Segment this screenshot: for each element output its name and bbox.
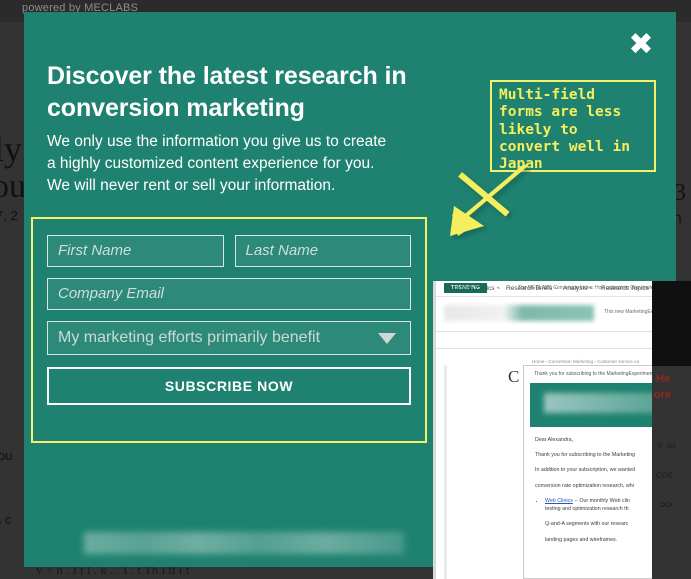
- thumbnail-overlay-grey-1: e an: [658, 439, 676, 451]
- subscribe-now-button[interactable]: SUBSCRIBE NOW: [47, 367, 411, 405]
- form-highlight-box: First Name Last Name Company Email My ma…: [31, 217, 427, 443]
- chevron-down-icon: [378, 333, 396, 344]
- marketing-benefit-select[interactable]: My marketing efforts primarily benefit: [47, 321, 411, 355]
- background-fragment-left-5: a c: [0, 512, 11, 527]
- background-fragment-left-4: ou: [0, 448, 12, 463]
- thumbnail-email-bullet-line1: -- Our monthly Web clin: [573, 498, 630, 504]
- thumbnail-overlay-red-2: ore: [654, 389, 671, 401]
- thumbnail-overlay-grey-3: >>: [660, 499, 673, 511]
- thumbnail-dark-overlay-top: [652, 281, 691, 366]
- thumbnail-nav-item-2[interactable]: Analysis ~: [563, 285, 593, 292]
- background-fragment-left-2: ou: [0, 168, 26, 206]
- company-email-input[interactable]: Company Email: [47, 278, 411, 310]
- thumbnail-breadcrumb: Home › Conversion Marketing › Customer s…: [532, 359, 639, 364]
- thumbnail-panel-header: Thank you for subscribing to the Marketi…: [534, 371, 666, 377]
- thumbnail-nav-item-3[interactable]: Research Topics ~: [601, 285, 655, 292]
- thumbnail-overlay-grey-2: cce: [656, 469, 673, 481]
- background-fragment-left-3: 7, 2: [0, 208, 18, 223]
- thumbnail-nav-item-1[interactable]: Research Briefs ~: [506, 285, 558, 292]
- annotation-text: Multi-field forms are less likely to con…: [499, 87, 647, 173]
- first-name-input[interactable]: First Name: [47, 235, 224, 267]
- background-fragment-left-1: ly: [0, 128, 22, 170]
- thumbnail-nav-item-0[interactable]: Quick Win Clinics ~: [444, 285, 500, 292]
- thumbnail-scrollbar[interactable]: [444, 365, 447, 579]
- modal-body-text: We only use the information you give us …: [47, 131, 397, 197]
- page-title: Discover the latest research in conversi…: [47, 60, 467, 124]
- thumbnail-email-bullet-link[interactable]: Web Clinics: [545, 498, 573, 504]
- last-name-input[interactable]: Last Name: [235, 235, 412, 267]
- modal-footer-blurred-text: [84, 532, 404, 554]
- thumbnail-big-letter: C: [508, 367, 519, 387]
- subscribe-form: First Name Last Name Company Email My ma…: [33, 219, 425, 441]
- thumbnail-panel-banner-logo: [544, 393, 664, 413]
- screenshot-root: powered by MECLABS ly ou 7, 2 ou a c s h…: [0, 0, 691, 579]
- thumbnail-overlay-red-1: He: [656, 373, 670, 385]
- nested-screenshot-thumbnail: TRENDING ‹ › The MECLABS Conversion Inde…: [433, 281, 691, 579]
- background-left-column: [0, 22, 26, 579]
- arrow-down-left-icon: [424, 162, 532, 240]
- name-fields-row: First Name Last Name: [47, 235, 411, 267]
- close-icon[interactable]: ✖: [626, 30, 656, 60]
- thumbnail-logo: [444, 305, 594, 321]
- annotation-callout: Multi-field forms are less likely to con…: [490, 80, 656, 172]
- marketing-benefit-select-label: My marketing efforts primarily benefit: [58, 329, 378, 347]
